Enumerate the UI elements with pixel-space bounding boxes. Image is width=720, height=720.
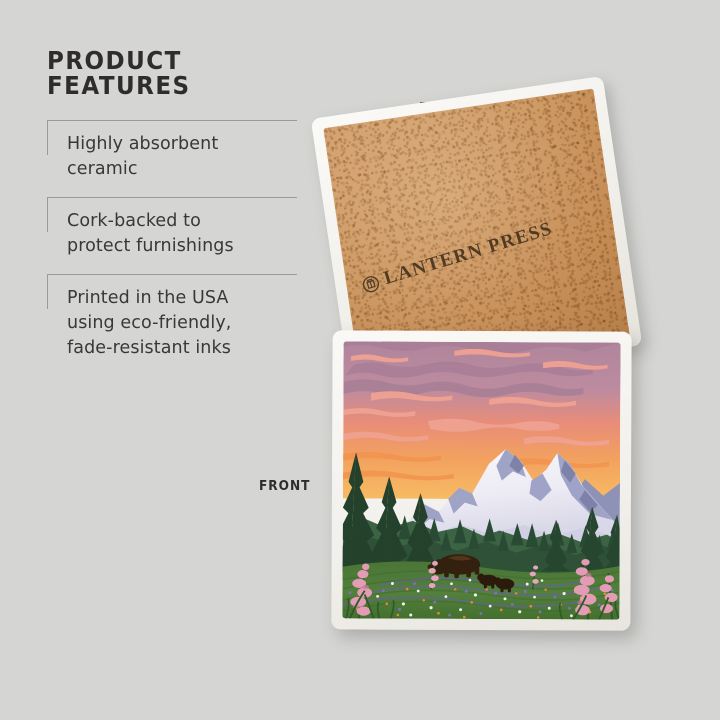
feature-item: Printed in the USA using eco-friendly, f…: [47, 274, 297, 376]
page-title: PRODUCT FEATURES: [47, 48, 277, 98]
feature-text: Highly absorbent ceramic: [67, 132, 297, 182]
feature-item: Cork-backed to protect furnishings: [47, 197, 297, 274]
product-feature-graphic: PRODUCT FEATURES Highly absorbent cerami…: [0, 0, 720, 720]
feature-text: Printed in the USA using eco-friendly, f…: [67, 286, 297, 361]
coaster-front: [331, 330, 631, 630]
product-features-panel: PRODUCT FEATURES Highly absorbent cerami…: [47, 48, 297, 376]
label-front: FRONT: [259, 478, 310, 494]
feature-item: Highly absorbent ceramic: [47, 120, 297, 197]
lantern-icon: [360, 273, 381, 294]
feature-text: Cork-backed to protect furnishings: [67, 209, 297, 259]
coaster-artwork: [342, 341, 620, 619]
coaster-front-surface: [342, 341, 620, 619]
